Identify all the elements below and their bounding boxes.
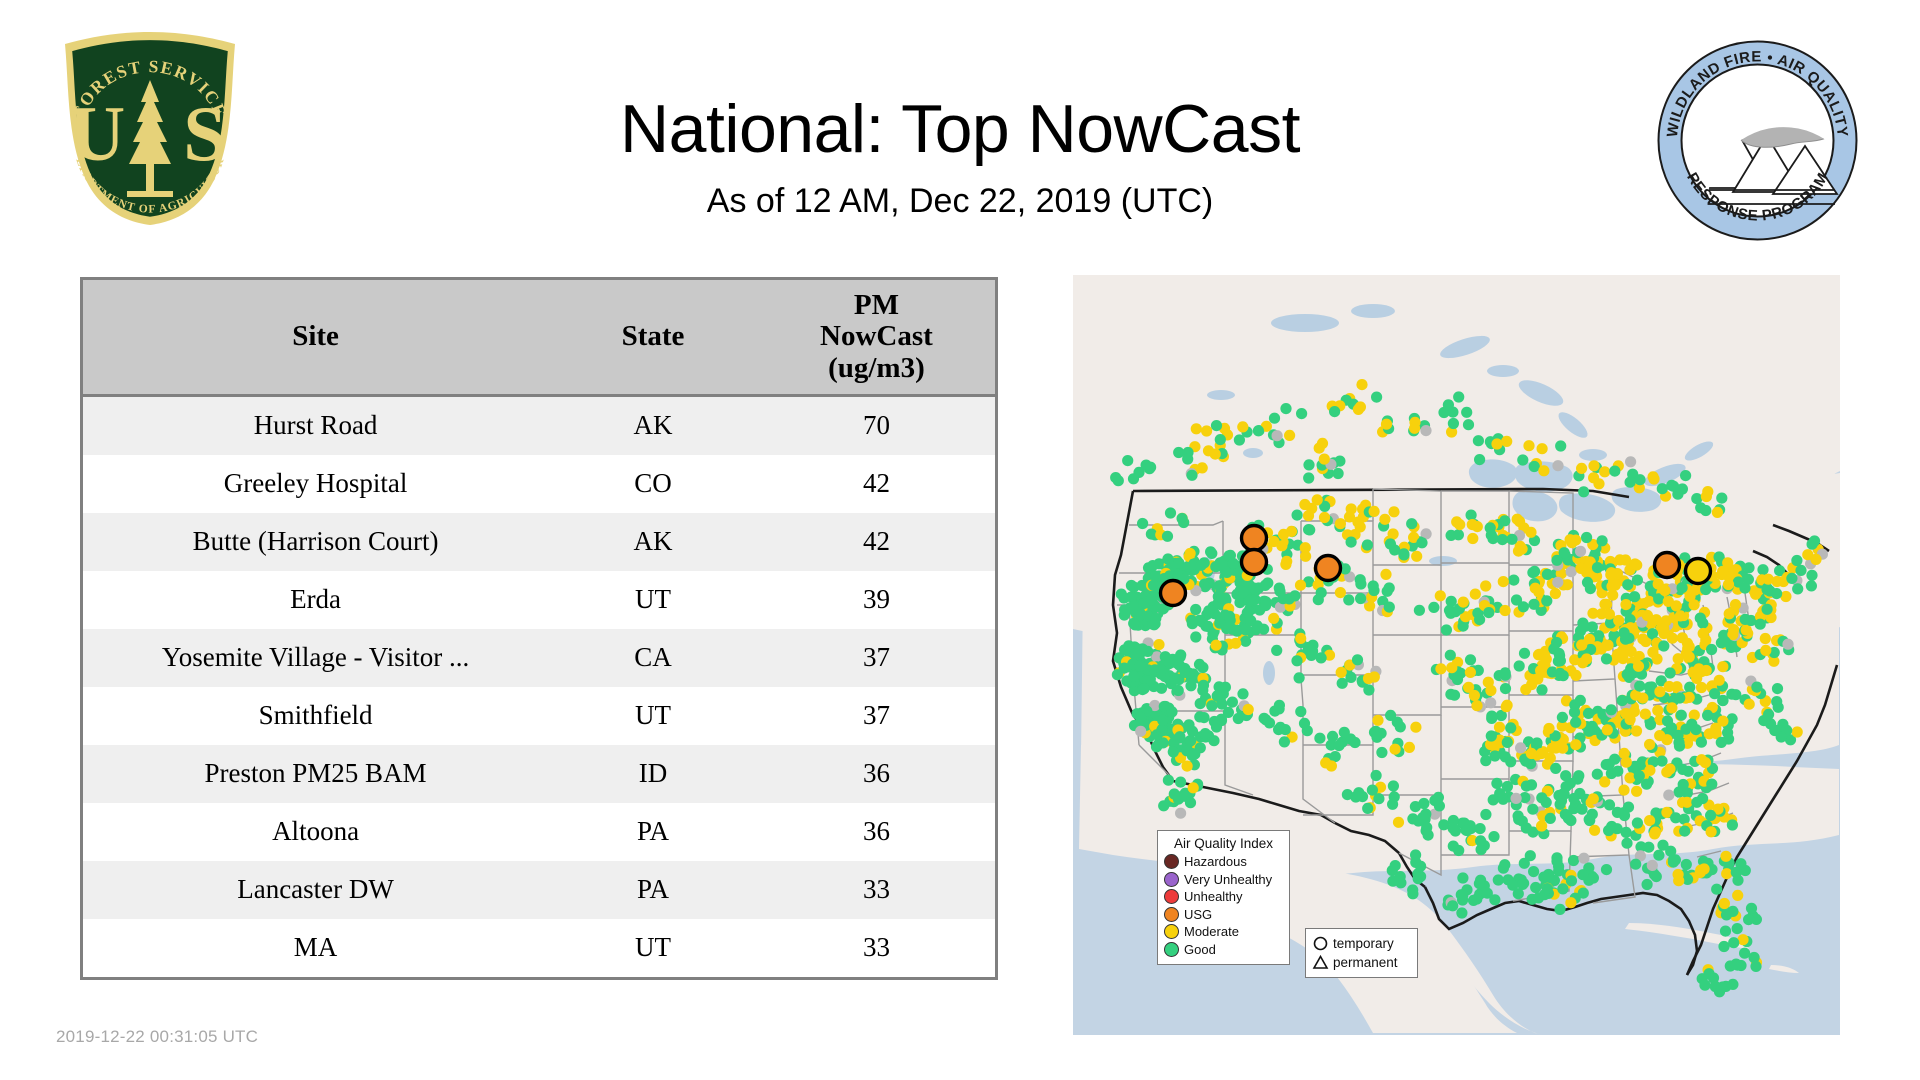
monitor-dot[interactable] <box>1173 558 1184 569</box>
monitor-dot[interactable] <box>1530 583 1541 594</box>
monitor-dot[interactable] <box>1135 712 1146 723</box>
monitor-dot[interactable] <box>1606 704 1617 715</box>
monitor-dot[interactable] <box>1498 863 1509 874</box>
monitor-dot[interactable] <box>1169 673 1180 684</box>
monitor-dot[interactable] <box>1505 756 1516 767</box>
monitor-dot[interactable] <box>1175 649 1186 660</box>
monitor-dot[interactable] <box>1559 789 1570 800</box>
monitor-dot[interactable] <box>1303 459 1314 470</box>
monitor-dot[interactable] <box>1272 430 1283 441</box>
monitor-dot[interactable] <box>1537 443 1548 454</box>
monitor-dot[interactable] <box>1744 699 1755 710</box>
monitor-dot[interactable] <box>1388 528 1399 539</box>
monitor-dot[interactable] <box>1384 602 1395 613</box>
monitor-dot[interactable] <box>1187 618 1198 629</box>
monitor-dot[interactable] <box>1185 548 1196 559</box>
monitor-dot[interactable] <box>1329 406 1340 417</box>
monitor-dot[interactable] <box>1276 540 1287 551</box>
monitor-dot[interactable] <box>1618 807 1629 818</box>
monitor-dot[interactable] <box>1535 665 1546 676</box>
monitor-dot[interactable] <box>1653 850 1664 861</box>
monitor-dot[interactable] <box>1343 594 1354 605</box>
monitor-dot[interactable] <box>1284 593 1295 604</box>
monitor-dot[interactable] <box>1536 792 1547 803</box>
monitor-dot[interactable] <box>1533 892 1544 903</box>
monitor-dot[interactable] <box>1506 534 1517 545</box>
monitor-dot[interactable] <box>1771 588 1782 599</box>
monitor-dot[interactable] <box>1560 770 1571 781</box>
monitor-dot[interactable] <box>1174 660 1185 671</box>
monitor-dot[interactable] <box>1578 853 1589 864</box>
monitor-dot[interactable] <box>1758 715 1769 726</box>
monitor-dot[interactable] <box>1147 560 1158 571</box>
monitor-dot[interactable] <box>1652 705 1663 716</box>
monitor-dot[interactable] <box>1810 554 1821 565</box>
monitor-dot[interactable] <box>1575 695 1586 706</box>
monitor-dot[interactable] <box>1526 748 1537 759</box>
monitor-dot[interactable] <box>1538 872 1549 883</box>
monitor-dot[interactable] <box>1185 735 1196 746</box>
monitor-dot[interactable] <box>1552 577 1563 588</box>
monitor-dot[interactable] <box>1717 661 1728 672</box>
monitor-dot[interactable] <box>1720 981 1731 992</box>
monitor-dot[interactable] <box>1663 596 1674 607</box>
monitor-dot[interactable] <box>1502 737 1513 748</box>
monitor-dot[interactable] <box>1461 825 1472 836</box>
monitor-dot[interactable] <box>1480 809 1491 820</box>
monitor-dot[interactable] <box>1200 728 1211 739</box>
monitor-dot[interactable] <box>1473 435 1484 446</box>
monitor-dot[interactable] <box>1559 547 1570 558</box>
monitor-dot[interactable] <box>1604 799 1615 810</box>
monitor-dot[interactable] <box>1648 473 1659 484</box>
monitor-dot[interactable] <box>1557 712 1568 723</box>
monitor-dot[interactable] <box>1387 876 1398 887</box>
monitor-dot[interactable] <box>1792 583 1803 594</box>
monitor-dot[interactable] <box>1354 789 1365 800</box>
monitor-dot[interactable] <box>1188 782 1199 793</box>
highlighted-site-marker[interactable] <box>1242 526 1267 551</box>
monitor-dot[interactable] <box>1679 826 1690 837</box>
monitor-dot[interactable] <box>1645 719 1656 730</box>
monitor-dot[interactable] <box>1757 564 1768 575</box>
monitor-dot[interactable] <box>1551 637 1562 648</box>
monitor-dot[interactable] <box>1447 900 1458 911</box>
monitor-dot[interactable] <box>1453 391 1464 402</box>
monitor-dot[interactable] <box>1507 880 1518 891</box>
monitor-dot[interactable] <box>1376 747 1387 758</box>
monitor-dot[interactable] <box>1182 761 1193 772</box>
monitor-dot[interactable] <box>1696 737 1707 748</box>
monitor-dot[interactable] <box>1657 840 1668 851</box>
monitor-dot[interactable] <box>1634 681 1645 692</box>
monitor-dot[interactable] <box>1577 869 1588 880</box>
monitor-dot[interactable] <box>1570 717 1581 728</box>
monitor-dot[interactable] <box>1294 672 1305 683</box>
monitor-dot[interactable] <box>1313 594 1324 605</box>
monitor-dot[interactable] <box>1557 883 1568 894</box>
monitor-dot[interactable] <box>1196 560 1207 571</box>
monitor-dot[interactable] <box>1142 646 1153 657</box>
monitor-dot[interactable] <box>1576 639 1587 650</box>
monitor-dot[interactable] <box>1617 653 1628 664</box>
monitor-dot[interactable] <box>1773 702 1784 713</box>
monitor-dot[interactable] <box>1751 682 1762 693</box>
monitor-dot[interactable] <box>1505 722 1516 733</box>
monitor-dot[interactable] <box>1470 589 1481 600</box>
highlighted-site-marker[interactable] <box>1686 559 1711 584</box>
monitor-dot[interactable] <box>1569 707 1580 718</box>
monitor-dot[interactable] <box>1243 606 1254 617</box>
monitor-dot[interactable] <box>1148 580 1159 591</box>
monitor-dot[interactable] <box>1371 732 1382 743</box>
monitor-dot[interactable] <box>1371 392 1382 403</box>
monitor-dot[interactable] <box>1501 436 1512 447</box>
monitor-dot[interactable] <box>1701 491 1712 502</box>
monitor-dot[interactable] <box>1486 730 1497 741</box>
monitor-dot[interactable] <box>1515 742 1526 753</box>
monitor-dot[interactable] <box>1644 682 1655 693</box>
monitor-dot[interactable] <box>1465 667 1476 678</box>
monitor-dot[interactable] <box>1299 718 1310 729</box>
monitor-dot[interactable] <box>1352 517 1363 528</box>
monitor-dot[interactable] <box>1461 407 1472 418</box>
monitor-dot[interactable] <box>1215 434 1226 445</box>
monitor-dot[interactable] <box>1684 651 1695 662</box>
monitor-dot[interactable] <box>1677 764 1688 775</box>
monitor-dot[interactable] <box>1355 574 1366 585</box>
monitor-dot[interactable] <box>1602 724 1613 735</box>
monitor-dot[interactable] <box>1529 461 1540 472</box>
monitor-dot[interactable] <box>1681 859 1692 870</box>
monitor-dot[interactable] <box>1644 739 1655 750</box>
monitor-dot[interactable] <box>1597 535 1608 546</box>
monitor-dot[interactable] <box>1665 667 1676 678</box>
monitor-dot[interactable] <box>1356 379 1367 390</box>
monitor-dot[interactable] <box>1696 682 1707 693</box>
monitor-dot[interactable] <box>1475 835 1486 846</box>
monitor-dot[interactable] <box>1601 653 1612 664</box>
monitor-dot[interactable] <box>1519 648 1530 659</box>
monitor-dot[interactable] <box>1469 690 1480 701</box>
monitor-dot[interactable] <box>1475 823 1486 834</box>
monitor-dot[interactable] <box>1369 506 1380 517</box>
monitor-dot[interactable] <box>1528 599 1539 610</box>
monitor-dot[interactable] <box>1743 562 1754 573</box>
monitor-dot[interactable] <box>1138 683 1149 694</box>
monitor-dot[interactable] <box>1555 440 1566 451</box>
monitor-dot[interactable] <box>1587 809 1598 820</box>
monitor-dot[interactable] <box>1674 741 1685 752</box>
monitor-dot[interactable] <box>1606 567 1617 578</box>
monitor-dot[interactable] <box>1619 627 1630 638</box>
monitor-dot[interactable] <box>1451 516 1462 527</box>
monitor-dot[interactable] <box>1418 798 1429 809</box>
monitor-dot[interactable] <box>1760 645 1771 656</box>
monitor-dot[interactable] <box>1381 419 1392 430</box>
monitor-dot[interactable] <box>1126 580 1137 591</box>
monitor-dot[interactable] <box>1700 505 1711 516</box>
monitor-dot[interactable] <box>1491 438 1502 449</box>
monitor-dot[interactable] <box>1279 736 1290 747</box>
monitor-dot[interactable] <box>1269 413 1280 424</box>
monitor-dot[interactable] <box>1237 688 1248 699</box>
monitor-dot[interactable] <box>1410 722 1421 733</box>
monitor-dot[interactable] <box>1706 779 1717 790</box>
monitor-dot[interactable] <box>1384 582 1395 593</box>
monitor-dot[interactable] <box>1565 534 1576 545</box>
monitor-dot[interactable] <box>1486 711 1497 722</box>
monitor-dot[interactable] <box>1296 408 1307 419</box>
monitor-dot[interactable] <box>1173 685 1184 696</box>
monitor-dot[interactable] <box>1274 700 1285 711</box>
monitor-dot[interactable] <box>1654 686 1665 697</box>
monitor-dot[interactable] <box>1355 401 1366 412</box>
monitor-dot[interactable] <box>1566 875 1577 886</box>
monitor-dot[interactable] <box>1545 813 1556 824</box>
monitor-dot[interactable] <box>1181 745 1192 756</box>
monitor-dot[interactable] <box>1211 420 1222 431</box>
monitor-dot[interactable] <box>1588 460 1599 471</box>
monitor-dot[interactable] <box>1177 513 1188 524</box>
monitor-dot[interactable] <box>1530 882 1541 893</box>
monitor-dot[interactable] <box>1389 791 1400 802</box>
monitor-dot[interactable] <box>1452 674 1463 685</box>
monitor-dot[interactable] <box>1446 662 1457 673</box>
monitor-dot[interactable] <box>1572 774 1583 785</box>
monitor-dot[interactable] <box>1137 518 1148 529</box>
monitor-dot[interactable] <box>1175 808 1186 819</box>
monitor-dot[interactable] <box>1601 864 1612 875</box>
monitor-dot[interactable] <box>1407 888 1418 899</box>
monitor-dot[interactable] <box>1513 810 1524 821</box>
monitor-dot[interactable] <box>1428 602 1439 613</box>
monitor-dot[interactable] <box>1435 590 1446 601</box>
monitor-dot[interactable] <box>1631 786 1642 797</box>
monitor-dot[interactable] <box>1307 646 1318 657</box>
monitor-dot[interactable] <box>1367 785 1378 796</box>
monitor-dot[interactable] <box>1371 770 1382 781</box>
monitor-dot[interactable] <box>1379 514 1390 525</box>
monitor-dot[interactable] <box>1463 419 1474 430</box>
monitor-dot[interactable] <box>1554 648 1565 659</box>
monitor-dot[interactable] <box>1480 580 1491 591</box>
monitor-dot[interactable] <box>1518 601 1529 612</box>
monitor-dot[interactable] <box>1680 724 1691 735</box>
monitor-dot[interactable] <box>1122 455 1133 466</box>
monitor-dot[interactable] <box>1732 923 1743 934</box>
monitor-dot[interactable] <box>1542 883 1553 894</box>
monitor-dot[interactable] <box>1471 894 1482 905</box>
monitor-dot[interactable] <box>1641 779 1652 790</box>
monitor-dot[interactable] <box>1355 593 1366 604</box>
monitor-dot[interactable] <box>1596 608 1607 619</box>
monitor-dot[interactable] <box>1119 663 1130 674</box>
monitor-dot[interactable] <box>1291 655 1302 666</box>
monitor-dot[interactable] <box>1735 960 1746 971</box>
monitor-dot[interactable] <box>1554 904 1565 915</box>
monitor-dot[interactable] <box>1743 914 1754 925</box>
monitor-dot[interactable] <box>1508 575 1519 586</box>
monitor-dot[interactable] <box>1314 443 1325 454</box>
monitor-dot[interactable] <box>1491 778 1502 789</box>
monitor-dot[interactable] <box>1750 589 1761 600</box>
monitor-dot[interactable] <box>1517 879 1528 890</box>
monitor-dot[interactable] <box>1684 692 1695 703</box>
monitor-dot[interactable] <box>1130 648 1141 659</box>
monitor-dot[interactable] <box>1705 810 1716 821</box>
monitor-dot[interactable] <box>1385 538 1396 549</box>
monitor-dot[interactable] <box>1420 425 1431 436</box>
monitor-dot[interactable] <box>1791 555 1802 566</box>
monitor-dot[interactable] <box>1664 763 1675 774</box>
monitor-dot[interactable] <box>1157 715 1168 726</box>
monitor-dot[interactable] <box>1299 499 1310 510</box>
monitor-dot[interactable] <box>1755 619 1766 630</box>
monitor-dot[interactable] <box>1644 765 1655 776</box>
monitor-dot[interactable] <box>1806 580 1817 591</box>
monitor-dot[interactable] <box>1474 614 1485 625</box>
monitor-dot[interactable] <box>1404 742 1415 753</box>
monitor-dot[interactable] <box>1447 407 1458 418</box>
monitor-dot[interactable] <box>1673 875 1684 886</box>
monitor-dot[interactable] <box>1722 557 1733 568</box>
monitor-dot[interactable] <box>1339 727 1350 738</box>
monitor-dot[interactable] <box>1182 453 1193 464</box>
monitor-dot[interactable] <box>1368 580 1379 591</box>
monitor-dot[interactable] <box>1776 731 1787 742</box>
monitor-dot[interactable] <box>1536 684 1547 695</box>
monitor-dot[interactable] <box>1388 506 1399 517</box>
monitor-dot[interactable] <box>1303 472 1314 483</box>
monitor-dot[interactable] <box>1568 793 1579 804</box>
monitor-dot[interactable] <box>1441 624 1452 635</box>
monitor-dot[interactable] <box>1467 533 1478 544</box>
monitor-dot[interactable] <box>1393 817 1404 828</box>
monitor-dot[interactable] <box>1631 725 1642 736</box>
monitor-dot[interactable] <box>1274 583 1285 594</box>
monitor-dot[interactable] <box>1333 468 1344 479</box>
monitor-dot[interactable] <box>1150 613 1161 624</box>
monitor-dot[interactable] <box>1471 700 1482 711</box>
monitor-dot[interactable] <box>1224 611 1235 622</box>
monitor-dot[interactable] <box>1240 636 1251 647</box>
monitor-dot[interactable] <box>1314 733 1325 744</box>
monitor-dot[interactable] <box>1390 860 1401 871</box>
monitor-dot[interactable] <box>1589 825 1600 836</box>
monitor-dot[interactable] <box>1632 575 1643 586</box>
monitor-dot[interactable] <box>1703 968 1714 979</box>
monitor-dot[interactable] <box>1335 518 1346 529</box>
monitor-dot[interactable] <box>1319 512 1330 523</box>
monitor-dot[interactable] <box>1527 567 1538 578</box>
monitor-dot[interactable] <box>1706 644 1717 655</box>
monitor-dot[interactable] <box>1183 719 1194 730</box>
monitor-dot[interactable] <box>1609 466 1620 477</box>
monitor-dot[interactable] <box>1732 890 1743 901</box>
monitor-dot[interactable] <box>1326 760 1337 771</box>
monitor-dot[interactable] <box>1718 941 1729 952</box>
monitor-dot[interactable] <box>1675 610 1686 621</box>
monitor-dot[interactable] <box>1618 785 1629 796</box>
monitor-dot[interactable] <box>1300 551 1311 562</box>
monitor-dot[interactable] <box>1253 425 1264 436</box>
monitor-dot[interactable] <box>1782 639 1793 650</box>
monitor-dot[interactable] <box>1526 779 1537 790</box>
monitor-dot[interactable] <box>1563 813 1574 824</box>
monitor-dot[interactable] <box>1280 403 1291 414</box>
monitor-dot[interactable] <box>1260 714 1271 725</box>
monitor-dot[interactable] <box>1680 470 1691 481</box>
monitor-dot[interactable] <box>1448 841 1459 852</box>
monitor-dot[interactable] <box>1542 569 1553 580</box>
monitor-dot[interactable] <box>1487 533 1498 544</box>
monitor-dot[interactable] <box>1223 707 1234 718</box>
monitor-dot[interactable] <box>1412 868 1423 879</box>
monitor-dot[interactable] <box>1581 567 1592 578</box>
monitor-dot[interactable] <box>1118 592 1129 603</box>
monitor-dot[interactable] <box>1629 591 1640 602</box>
monitor-dot[interactable] <box>1453 529 1464 540</box>
monitor-dot[interactable] <box>1488 831 1499 842</box>
monitor-dot[interactable] <box>1456 907 1467 918</box>
monitor-dot[interactable] <box>1588 793 1599 804</box>
monitor-dot[interactable] <box>1625 456 1636 467</box>
highlighted-site-marker[interactable] <box>1242 550 1267 575</box>
monitor-dot[interactable] <box>1650 827 1661 838</box>
monitor-dot[interactable] <box>1156 725 1167 736</box>
monitor-dot[interactable] <box>1721 868 1732 879</box>
monitor-dot[interactable] <box>1620 599 1631 610</box>
monitor-dot[interactable] <box>1711 884 1722 895</box>
monitor-dot[interactable] <box>1721 909 1732 920</box>
monitor-dot[interactable] <box>1113 475 1124 486</box>
highlighted-site-marker[interactable] <box>1316 556 1341 581</box>
monitor-dot[interactable] <box>1613 615 1624 626</box>
monitor-dot[interactable] <box>1458 597 1469 608</box>
monitor-dot[interactable] <box>1195 698 1206 709</box>
monitor-dot[interactable] <box>1212 690 1223 701</box>
monitor-dot[interactable] <box>1411 551 1422 562</box>
monitor-dot[interactable] <box>1190 631 1201 642</box>
monitor-dot[interactable] <box>1417 812 1428 823</box>
monitor-dot[interactable] <box>1271 645 1282 656</box>
monitor-dot[interactable] <box>1807 539 1818 550</box>
monitor-dot[interactable] <box>1156 683 1167 694</box>
monitor-dot[interactable] <box>1286 526 1297 537</box>
monitor-dot[interactable] <box>1500 605 1511 616</box>
monitor-dot[interactable] <box>1483 607 1494 618</box>
monitor-dot[interactable] <box>1227 697 1238 708</box>
monitor-dot[interactable] <box>1578 486 1589 497</box>
monitor-dot[interactable] <box>1696 754 1707 765</box>
monitor-dot[interactable] <box>1716 493 1727 504</box>
monitor-dot[interactable] <box>1485 522 1496 533</box>
monitor-dot[interactable] <box>1168 746 1179 757</box>
monitor-dot[interactable] <box>1674 692 1685 703</box>
monitor-dot[interactable] <box>1663 790 1674 801</box>
monitor-dot[interactable] <box>1280 724 1291 735</box>
monitor-dot[interactable] <box>1517 454 1528 465</box>
monitor-dot[interactable] <box>1528 866 1539 877</box>
monitor-dot[interactable] <box>1741 624 1752 635</box>
monitor-dot[interactable] <box>1198 712 1209 723</box>
monitor-dot[interactable] <box>1760 633 1771 644</box>
monitor-dot[interactable] <box>1156 664 1167 675</box>
monitor-dot[interactable] <box>1550 588 1561 599</box>
monitor-dot[interactable] <box>1153 639 1164 650</box>
monitor-dot[interactable] <box>1612 766 1623 777</box>
